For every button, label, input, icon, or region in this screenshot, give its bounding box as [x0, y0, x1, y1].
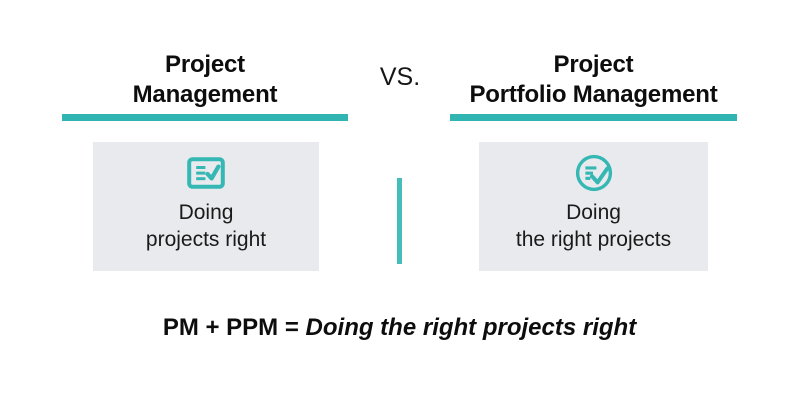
left-caption-line-1: Doing	[146, 199, 266, 226]
left-title-line-2: Management	[62, 80, 348, 110]
left-panel-caption: Doing projects right	[146, 199, 266, 253]
left-title-line-1: Project	[62, 50, 348, 80]
equation-result: Doing the right projects right	[306, 314, 637, 341]
right-panel: Doing the right projects	[479, 142, 708, 271]
right-panel-caption: Doing the right projects	[516, 199, 671, 253]
right-title-line-2: Portfolio Management	[450, 80, 737, 110]
right-caption-line-1: Doing	[516, 199, 671, 226]
checklist-square-icon	[186, 153, 226, 193]
left-title-underline	[62, 114, 348, 121]
report-check-circle-icon	[574, 153, 614, 193]
equation-prefix: PM + PPM =	[163, 314, 299, 341]
summary-equation: PM + PPM = Doing the right projects righ…	[0, 313, 799, 343]
left-panel: Doing projects right	[93, 142, 319, 271]
right-column-title: Project Portfolio Management	[450, 50, 737, 110]
center-divider	[397, 178, 402, 264]
right-title-underline	[450, 114, 737, 121]
right-caption-line-2: the right projects	[516, 226, 671, 253]
right-title-line-1: Project	[450, 50, 737, 80]
left-column-title: Project Management	[62, 50, 348, 110]
versus-label: VS.	[357, 62, 443, 92]
diagram-canvas: Project Management VS. Project Portfolio…	[0, 0, 799, 400]
left-caption-line-2: projects right	[146, 226, 266, 253]
